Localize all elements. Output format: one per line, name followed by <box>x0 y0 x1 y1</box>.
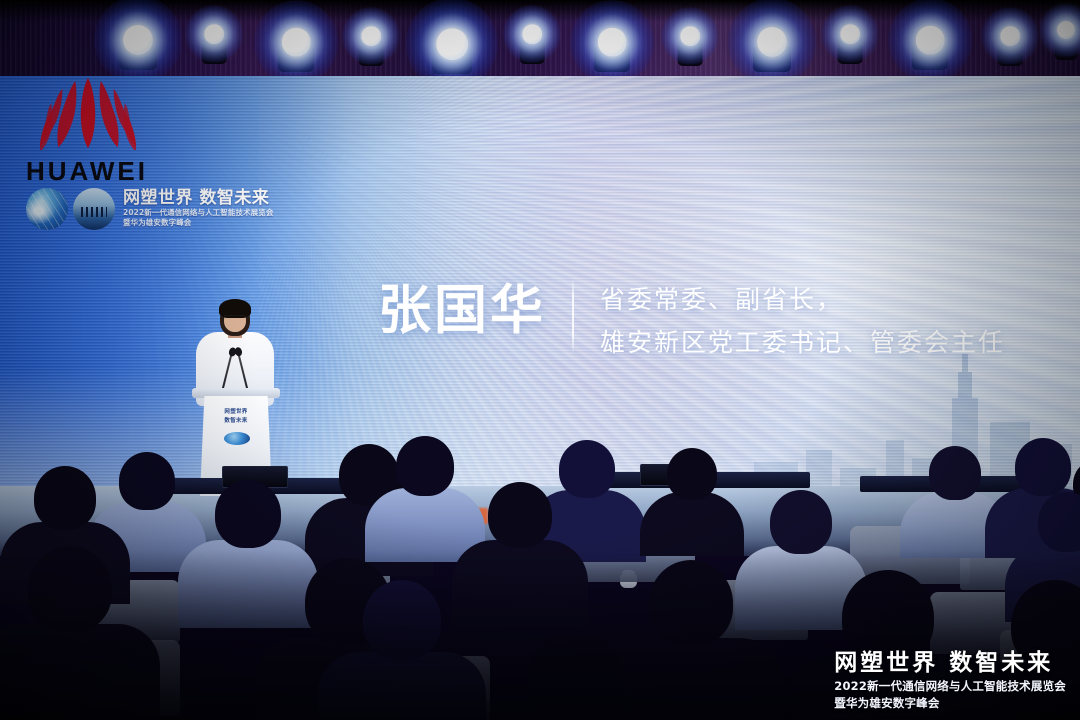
speaker-nameplate: 张国华 省委常委、副省长， 雄安新区党工委书记、管委会主任 <box>378 272 1005 364</box>
audience-member-head <box>667 448 717 500</box>
light-bulb <box>757 27 787 57</box>
nameplate-divider <box>572 278 574 354</box>
event-watermark: 网塑世界 数智未来 2022新一代通信网络与人工智能技术展览会 暨华为雄安数字峰… <box>834 649 1066 712</box>
event-subtitle-line2: 暨华为雄安数字峰会 <box>123 218 273 228</box>
audience-member-head <box>770 490 832 554</box>
watermark-subtitle-line2: 暨华为雄安数字峰会 <box>834 695 1066 712</box>
huawei-wordmark: HUAWEI <box>26 156 314 187</box>
audience-member-head <box>215 480 281 548</box>
event-title: 网塑世界 数智未来 <box>123 190 273 208</box>
huawei-branding-block: HUAWEI <box>14 76 314 187</box>
light-bulb <box>1057 21 1075 39</box>
podium-slogan-line2: 数智未来 <box>186 417 286 426</box>
speaker-title-line1: 省委常委、副省长， <box>600 278 1005 321</box>
audience-member-4 <box>640 448 744 564</box>
audience-member-head <box>1038 492 1080 552</box>
audience-member-head <box>929 446 981 500</box>
audience-member-head <box>396 436 454 496</box>
light-bulb <box>361 26 381 46</box>
light-bulb <box>680 26 700 46</box>
speaker-title-line2: 雄安新区党工委书记、管委会主任 <box>600 321 1005 364</box>
light-bulb <box>204 24 224 44</box>
cityscape-medallion-icon <box>73 188 115 230</box>
light-bulb <box>282 28 311 57</box>
light-bulb <box>522 24 542 44</box>
light-bulb <box>916 26 945 55</box>
audience-member-shoulders <box>640 492 744 556</box>
speaker-glasses-icon <box>224 315 246 320</box>
light-bulb <box>1000 26 1020 46</box>
light-bulb <box>123 25 153 55</box>
conference-stage-photo: HUAWEI 网塑世界 数智未来 2022新一代通信网络与人工智能技术展览会 暨… <box>0 0 1080 720</box>
audience-member-head <box>488 482 552 548</box>
audience-member-head <box>34 466 96 530</box>
event-logo-lockup: 网塑世界 数智未来 2022新一代通信网络与人工智能技术展览会 暨华为雄安数字峰… <box>26 188 273 230</box>
watermark-title: 网塑世界 数智未来 <box>834 649 1066 678</box>
speaker-name: 张国华 <box>378 272 546 337</box>
stage-light-13 <box>1018 0 1080 78</box>
event-subtitle-line1: 2022新一代通信网络与人工智能技术展览会 <box>123 208 273 218</box>
light-bulb <box>598 28 627 57</box>
globe-medallion-icon <box>26 188 68 230</box>
podium-slogan: 网塑世界 数智未来 <box>186 408 286 426</box>
watermark-subtitle-line1: 2022新一代通信网络与人工智能技术展览会 <box>834 678 1066 695</box>
podium-slogan-line1: 网塑世界 <box>186 408 286 417</box>
light-bulb <box>840 24 860 44</box>
huawei-flower-icon <box>40 76 136 150</box>
light-bulb <box>436 28 468 60</box>
